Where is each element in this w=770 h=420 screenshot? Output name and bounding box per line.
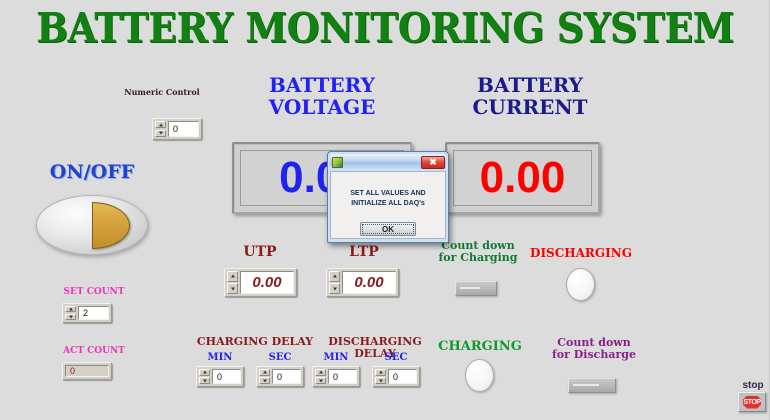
countdown-charging-indicator — [455, 281, 497, 296]
initialize-dialog[interactable]: ✖ SET ALL VALUES AND INITIALIZE ALL DAQ'… — [327, 151, 449, 243]
dialog-ok-button[interactable]: OK — [360, 222, 416, 236]
utp-label: UTP — [228, 245, 292, 261]
act-count-indicator: 0 — [62, 362, 112, 380]
ltp-input[interactable]: 0.00 — [326, 268, 399, 297]
stop-button[interactable]: STOP — [738, 392, 766, 412]
labview-app-icon — [332, 157, 343, 168]
onoff-toggle-switch[interactable] — [36, 195, 148, 255]
countdown-discharge-label: Count down for Discharge — [538, 337, 650, 362]
numeric-control-input[interactable]: 0 — [152, 118, 202, 140]
discharging-delay-sec-label: SEC — [372, 352, 420, 363]
ltp-value[interactable]: 0.00 — [342, 271, 396, 294]
close-icon[interactable]: ✖ — [421, 156, 445, 169]
discharging-delay-min-label: MIN — [312, 352, 360, 363]
battery-monitoring-front-panel: BATTERY MONITORING SYSTEM Numeric Contro… — [0, 0, 770, 420]
numeric-control-label: Numeric Control — [122, 88, 202, 97]
charging-delay-min-label: MIN — [196, 352, 244, 363]
set-count-label: SET COUNT — [52, 287, 136, 297]
stepper-up-icon[interactable] — [375, 369, 386, 376]
stepper-down-icon[interactable] — [155, 130, 166, 137]
discharging-led — [566, 268, 595, 301]
discharging-delay-sec-value[interactable]: 0 — [388, 369, 417, 384]
stepper-up-icon[interactable] — [65, 306, 76, 312]
dialog-titlebar[interactable]: ✖ — [330, 154, 446, 170]
charging-delay-sec-input[interactable]: 0 — [256, 366, 304, 387]
act-count-label: ACT COUNT — [52, 346, 136, 356]
discharging-delay-sec-stepper[interactable] — [375, 369, 386, 384]
stepper-down-icon[interactable] — [65, 314, 76, 320]
stop-sign-icon[interactable]: STOP — [743, 396, 761, 409]
set-count-stepper[interactable] — [65, 306, 76, 320]
dialog-body: SET ALL VALUES AND INITIALIZE ALL DAQ's … — [330, 171, 446, 239]
dialog-message: SET ALL VALUES AND INITIALIZE ALL DAQ's — [350, 189, 425, 209]
utp-input[interactable]: 0.00 — [224, 268, 297, 297]
stepper-down-icon[interactable] — [199, 377, 210, 384]
stepper-down-icon[interactable] — [315, 377, 326, 384]
stepper-down-icon[interactable] — [227, 283, 238, 294]
stepper-up-icon[interactable] — [315, 369, 326, 376]
stepper-up-icon[interactable] — [227, 271, 238, 282]
charging-delay-min-input[interactable]: 0 — [196, 366, 244, 387]
charging-delay-min-stepper[interactable] — [199, 369, 210, 384]
stop-label: stop — [738, 380, 768, 391]
charging-delay-sec-label: SEC — [256, 352, 304, 363]
charging-label: CHARGING — [432, 340, 528, 355]
onoff-knob[interactable] — [92, 202, 130, 249]
battery-current-display: 0.00 — [445, 142, 600, 214]
stepper-down-icon[interactable] — [259, 377, 270, 384]
numeric-control-stepper[interactable] — [155, 121, 166, 137]
battery-voltage-label: BATTERY VOLTAGE — [232, 74, 412, 119]
charging-delay-label: CHARGING DELAY — [196, 336, 314, 348]
act-count-value: 0 — [65, 365, 109, 377]
ltp-label: LTP — [332, 245, 396, 261]
battery-current-value: 0.00 — [453, 150, 592, 206]
battery-current-label: BATTERY CURRENT — [440, 74, 620, 119]
discharging-delay-sec-input[interactable]: 0 — [372, 366, 420, 387]
discharging-label: DISCHARGING — [528, 247, 634, 260]
charging-delay-sec-value[interactable]: 0 — [272, 369, 301, 384]
charging-led — [465, 359, 494, 392]
stepper-up-icon[interactable] — [155, 121, 166, 128]
ltp-stepper[interactable] — [329, 271, 340, 294]
utp-stepper[interactable] — [227, 271, 238, 294]
page-title: BATTERY MONITORING SYSTEM — [31, 4, 739, 52]
discharging-delay-min-value[interactable]: 0 — [328, 369, 357, 384]
onoff-label: ON/OFF — [22, 162, 162, 183]
numeric-control-value[interactable]: 0 — [168, 121, 199, 137]
countdown-charging-label: Count down for Charging — [430, 240, 526, 265]
set-count-input[interactable]: 2 — [62, 303, 112, 323]
charging-delay-sec-stepper[interactable] — [259, 369, 270, 384]
stop-control[interactable]: stop STOP — [738, 380, 768, 412]
stepper-down-icon[interactable] — [375, 377, 386, 384]
stepper-up-icon[interactable] — [329, 271, 340, 282]
stepper-up-icon[interactable] — [259, 369, 270, 376]
stepper-down-icon[interactable] — [329, 283, 340, 294]
discharging-delay-min-input[interactable]: 0 — [312, 366, 360, 387]
set-count-value[interactable]: 2 — [78, 306, 109, 320]
countdown-discharge-indicator — [568, 378, 616, 393]
discharging-delay-min-stepper[interactable] — [315, 369, 326, 384]
charging-delay-min-value[interactable]: 0 — [212, 369, 241, 384]
stepper-up-icon[interactable] — [199, 369, 210, 376]
utp-value[interactable]: 0.00 — [240, 271, 294, 294]
